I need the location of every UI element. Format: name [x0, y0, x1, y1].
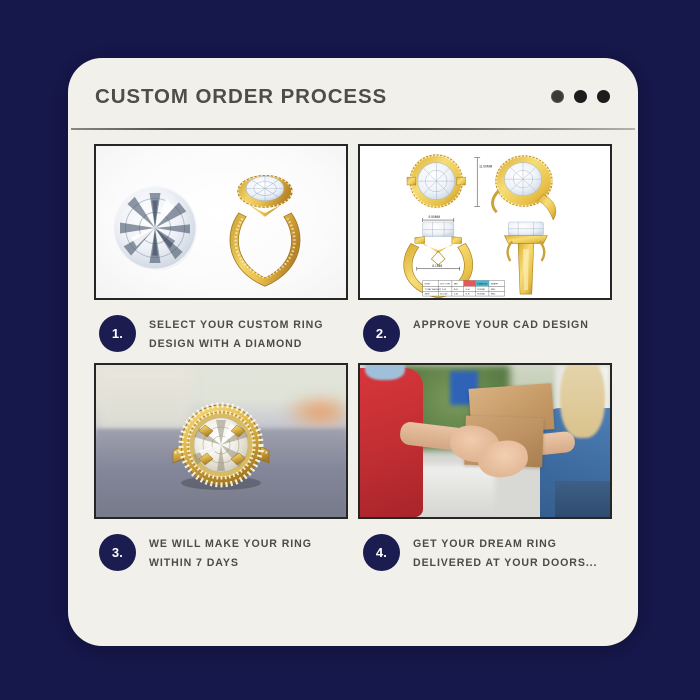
step-label-1: SELECT YOUR CUSTOM RING DESIGN WITH A DI…	[149, 314, 334, 353]
svg-text:QTY CTW: QTY CTW	[440, 283, 450, 285]
svg-text:G-H: G-H	[466, 294, 470, 296]
header-divider	[71, 128, 635, 130]
card-header: CUSTOM ORDER PROCESS	[68, 58, 638, 129]
window-dots	[551, 90, 610, 103]
step-label-2: APPROVE YOUR CAD DESIGN	[413, 314, 589, 335]
svg-text:ROUND: ROUND	[477, 294, 485, 296]
svg-text:6.1MM: 6.1MM	[432, 264, 442, 268]
step-caption-2: 2. APPROVE YOUR CAD DESIGN	[358, 300, 612, 352]
step-number-badge-4: 4.	[363, 534, 400, 571]
process-card: CUSTOM ORDER PROCESS	[68, 58, 638, 646]
svg-text:ROUND: ROUND	[477, 289, 485, 291]
svg-text:RBC: RBC	[491, 294, 496, 296]
photo-bokeh-warm	[281, 392, 346, 432]
step-card-1[interactable]: 1. SELECT YOUR CUSTOM RING DESIGN WITH A…	[94, 144, 348, 353]
step-caption-3: 3. WE WILL MAKE YOUR RING WITHIN 7 DAYS	[94, 519, 348, 572]
svg-text:SIDE: SIDE	[425, 294, 431, 296]
svg-text:9.50MM: 9.50MM	[428, 215, 440, 219]
svg-text:DIAMOND: DIAMOND	[477, 282, 488, 285]
svg-text:TOTAL WEIGHT: TOTAL WEIGHT	[425, 288, 441, 291]
svg-text:SHAPE: SHAPE	[491, 282, 499, 285]
cad-sheet-artwork: 11.00MM	[360, 146, 610, 298]
steps-grid: 1. SELECT YOUR CUSTOM RING DESIGN WITH A…	[68, 144, 638, 572]
customer-hair	[560, 365, 605, 438]
svg-text:1 2.05: 1 2.05	[440, 289, 447, 291]
step-caption-1: 1. SELECT YOUR CUSTOM RING DESIGN WITH A…	[94, 300, 348, 353]
svg-text:MM: MM	[454, 283, 458, 285]
svg-text:11.00MM: 11.00MM	[479, 164, 492, 168]
diamond-icon	[109, 182, 201, 274]
step-number-badge-1: 1.	[99, 315, 136, 352]
svg-text:G-H: G-H	[466, 289, 470, 291]
delivery-artwork	[360, 365, 610, 517]
cad-design-drawing: 11.00MM	[358, 144, 612, 300]
step-label-4: GET YOUR DREAM RING DELIVERED AT YOUR DO…	[413, 533, 598, 572]
step-number-badge-2: 2.	[363, 315, 400, 352]
diamond-and-ring-photo	[94, 144, 348, 300]
dot-one-icon[interactable]	[551, 90, 564, 103]
finished-ring-artwork	[96, 365, 346, 517]
step-card-2[interactable]: 11.00MM	[358, 144, 612, 353]
delivery-handoff-photo	[358, 363, 612, 519]
page-title: CUSTOM ORDER PROCESS	[95, 85, 387, 109]
cad-views-icon: 11.00MM	[360, 146, 610, 298]
finished-ring-photo	[94, 363, 348, 519]
diamond-and-ring-artwork	[96, 146, 346, 298]
step-card-4[interactable]: 4. GET YOUR DREAM RING DELIVERED AT YOUR…	[358, 363, 612, 572]
dot-three-icon[interactable]	[597, 90, 610, 103]
customer-jeans	[555, 481, 610, 517]
step-card-3[interactable]: 3. WE WILL MAKE YOUR RING WITHIN 7 DAYS	[94, 363, 348, 572]
poster-canvas: CUSTOM ORDER PROCESS	[0, 0, 700, 700]
halo-ring-icon	[161, 395, 281, 491]
svg-text:64 0.64: 64 0.64	[440, 294, 448, 296]
step-caption-4: 4. GET YOUR DREAM RING DELIVERED AT YOUR…	[358, 519, 612, 572]
step-label-3: WE WILL MAKE YOUR RING WITHIN 7 DAYS	[149, 533, 334, 572]
step-number-badge-3: 3.	[99, 534, 136, 571]
dot-two-icon[interactable]	[574, 90, 587, 103]
svg-text:RBC: RBC	[491, 289, 496, 291]
gold-ring-icon	[218, 164, 312, 292]
svg-text:ITEM: ITEM	[425, 283, 430, 285]
